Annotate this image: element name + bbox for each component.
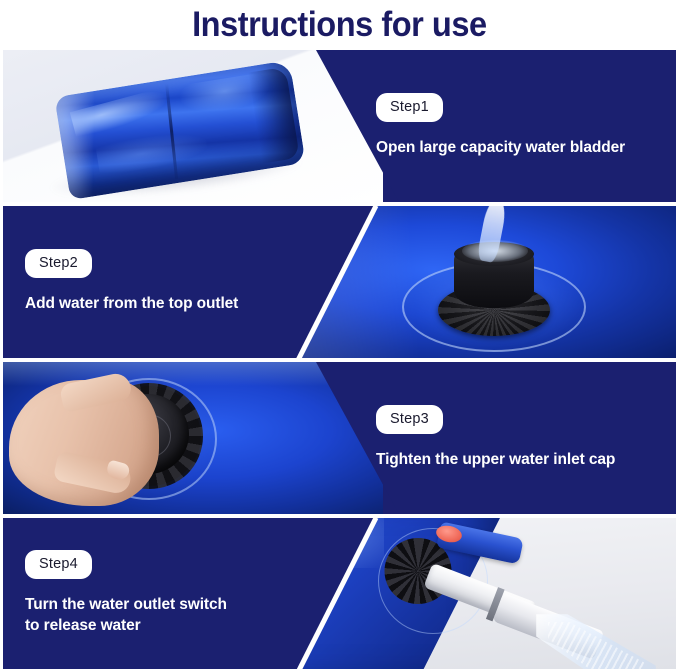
step-3-photo <box>3 362 383 514</box>
step-row-1: Step1 Open large capacity water bladder <box>3 50 676 202</box>
step-row-2: Step2 Add water from the top outlet <box>3 206 676 358</box>
step-row-3: Step3 Tighten the upper water inlet cap <box>3 362 676 514</box>
step-1-photo <box>3 50 383 202</box>
step-4-badge: Step4 <box>25 550 92 580</box>
page-title-bar: Instructions for use <box>0 0 679 48</box>
bladder-edge-shade <box>248 67 300 163</box>
step-row-4: Step4 Turn the water outlet switch to re… <box>3 518 676 669</box>
step-1-description: Open large capacity water bladder <box>376 138 676 159</box>
bladder-highlight <box>96 128 209 176</box>
step-3-text: Step3 Tighten the upper water inlet cap <box>368 362 676 514</box>
instructions-infographic: Instructions for use Step1 Open large ca… <box>0 0 679 671</box>
step-4-description: Turn the water outlet switch to release … <box>25 595 325 637</box>
step-1-text: Step1 Open large capacity water bladder <box>368 50 676 202</box>
step-2-description: Add water from the top outlet <box>25 294 325 315</box>
step-3-description: Tighten the upper water inlet cap <box>376 450 676 471</box>
step-3-badge: Step3 <box>376 405 443 435</box>
step-4-text: Step4 Turn the water outlet switch to re… <box>25 518 325 669</box>
bladder-highlight <box>70 87 174 139</box>
page-title: Instructions for use <box>192 7 487 42</box>
step-2-badge: Step2 <box>25 249 92 279</box>
step-2-text: Step2 Add water from the top outlet <box>25 206 325 358</box>
step-1-badge: Step1 <box>376 93 443 123</box>
